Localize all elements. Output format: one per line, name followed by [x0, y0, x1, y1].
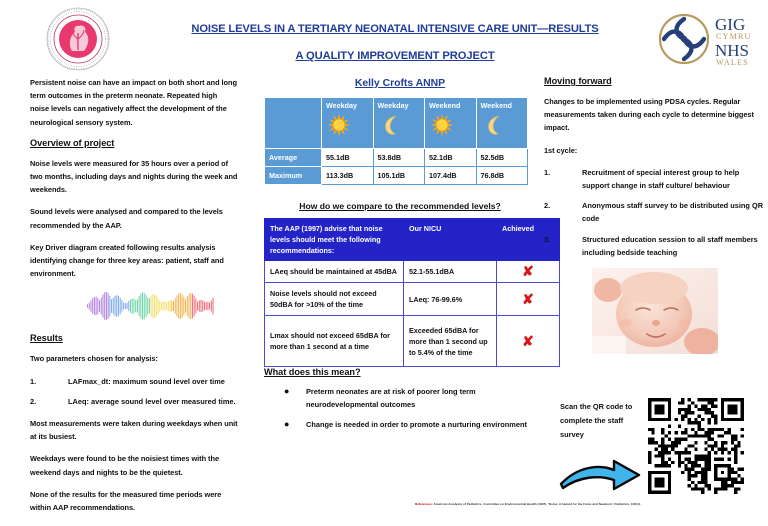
list-item-number: 1.: [544, 166, 574, 179]
cycle-label: 1st cycle:: [544, 144, 764, 157]
list-item: ● Preterm neonates are at risk of poorer…: [264, 386, 536, 411]
results-paragraph-2: Weekdays were found to be the noisiest t…: [30, 452, 238, 478]
table-row: Average 55.1dB 53.8dB 52.1dB 52.5dB: [265, 149, 528, 167]
cell-our-nicu-1: 52.1-55.1dBA: [404, 261, 497, 283]
column-header-our-nicu: Our NICU: [404, 219, 497, 261]
list-item: 3. Structured education session to all s…: [544, 233, 764, 259]
moving-forward-paragraph: Changes to be implemented using PDSA cyc…: [544, 95, 764, 135]
sound-waveform-graphic: [86, 289, 216, 323]
list-item-number: 2.: [544, 199, 574, 212]
table-corner-cell: [265, 98, 322, 149]
list-item-label: Preterm neonates are at risk of poorer l…: [306, 387, 476, 409]
table-row: Noise levels should not exceed 50dBA for…: [265, 283, 560, 316]
cell-maximum-weekend-day: 107.4dB: [425, 167, 477, 185]
results-intro: Two parameters chosen for analysis:: [30, 352, 238, 365]
nhs-wales-logo: GIG CYMRU NHS WALES: [652, 8, 764, 70]
bullet-dot-icon: ●: [284, 418, 289, 431]
cell-recommendation-1: LAeq should be maintained at 45dBA: [265, 261, 404, 283]
list-item-number: 3.: [544, 233, 574, 246]
list-item-label: LAFmax_dt: maximum sound level over time: [68, 377, 225, 386]
list-item-number: 1.: [30, 375, 60, 388]
university-crest-logo: [42, 6, 114, 72]
column-header-weekday-night: Weekday: [373, 98, 425, 149]
arrow-right-icon: [558, 458, 642, 492]
cell-average-weekday-night: 53.8dB: [373, 149, 425, 167]
sun-icon: [326, 113, 369, 139]
qr-instruction-text: Scan the QR code to complete the staff s…: [560, 400, 640, 442]
row-header-average: Average: [265, 149, 322, 167]
recommendations-comparison-table: The AAP (1997) advise that noise levels …: [264, 218, 560, 367]
staff-survey-qr-code[interactable]: [648, 398, 744, 494]
references-text: American Academy of Pediatrics, Committe…: [433, 502, 641, 506]
results-heading: Results: [30, 333, 238, 343]
list-item-label: Change is needed in order to promote a n…: [306, 420, 527, 429]
references-label: References:: [415, 502, 433, 506]
list-item-label: Anonymous staff survey to be distributed…: [582, 201, 763, 223]
poster-canvas: NOISE LEVELS IN A TERTIARY NEONATAL INTE…: [0, 0, 768, 526]
overview-paragraph-3: Key Driver diagram created following res…: [30, 241, 238, 281]
column-header-label: Weekend: [429, 101, 460, 110]
results-summary-table: Weekday Weekday: [264, 97, 528, 185]
cell-average-weekday-day: 55.1dB: [322, 149, 374, 167]
list-item: 2. Anonymous staff survey to be distribu…: [544, 199, 764, 225]
references-footer: References: American Academy of Pediatri…: [415, 502, 755, 507]
table-row: LAeq should be maintained at 45dBA 52.1-…: [265, 261, 560, 283]
list-item: ● Change is needed in order to promote a…: [264, 419, 536, 432]
moving-forward-heading: Moving forward: [544, 76, 764, 86]
list-item-number: 2.: [30, 395, 60, 408]
overview-paragraph-1: Noise levels were measured for 35 hours …: [30, 157, 238, 197]
page-title: NOISE LEVELS IN A TERTIARY NEONATAL INTE…: [150, 22, 640, 62]
title-main: NOISE LEVELS IN A TERTIARY NEONATAL INTE…: [150, 22, 640, 36]
cell-recommendation-2: Noise levels should not exceed 50dBA for…: [265, 283, 404, 316]
left-column: Persistent noise can have an impact on b…: [30, 76, 238, 523]
cell-average-weekend-night: 52.5dB: [476, 149, 528, 167]
cell-average-weekend-day: 52.1dB: [425, 149, 477, 167]
cycle-action-list: 1. Recruitment of special interest group…: [544, 166, 764, 259]
logo-wales-text: WALES: [716, 58, 749, 67]
meaning-heading: What does this mean?: [264, 367, 536, 377]
column-header-label: Weekday: [326, 101, 357, 110]
column-header-label: Weekend: [481, 101, 512, 110]
right-column: Moving forward Changes to be implemented…: [544, 76, 764, 354]
moon-icon: [481, 113, 524, 139]
results-parameter-list: 1. LAFmax_dt: maximum sound level over t…: [30, 375, 238, 408]
sun-icon: [429, 113, 472, 139]
overview-paragraph-2: Sound levels were analysed and compared …: [30, 205, 238, 231]
author-name: Kelly Crofts ANNP: [264, 78, 536, 89]
list-item-label: LAeq: average sound level over measured …: [68, 397, 236, 406]
cell-maximum-weekend-night: 76.8dB: [476, 167, 528, 185]
results-paragraph-3: None of the results for the measured tim…: [30, 488, 238, 514]
cell-our-nicu-2: LAeq: 76-99.6%: [404, 283, 497, 316]
cell-maximum-weekday-night: 105.1dB: [373, 167, 425, 185]
moon-icon: [378, 113, 421, 139]
title-subtitle: A QUALITY IMPROVEMENT PROJECT: [150, 50, 640, 62]
list-item-label: Structured education session to all staf…: [582, 235, 758, 257]
list-item: 1. LAFmax_dt: maximum sound level over t…: [30, 375, 238, 388]
column-header-weekend-day: Weekend: [425, 98, 477, 149]
intro-paragraph: Persistent noise can have an impact on b…: [30, 76, 238, 129]
overview-heading: Overview of project: [30, 138, 238, 148]
cell-maximum-weekday-day: 113.3dB: [322, 167, 374, 185]
bullet-dot-icon: ●: [284, 385, 289, 398]
logo-cymru-text: CYMRU: [716, 32, 752, 41]
poster-header: NOISE LEVELS IN A TERTIARY NEONATAL INTE…: [0, 0, 768, 74]
cell-our-nicu-3: Exceeded 65dBA for more than 1 second up…: [404, 316, 497, 367]
table-header-row: The AAP (1997) advise that noise levels …: [265, 219, 560, 261]
column-header-weekend-night: Weekend: [476, 98, 528, 149]
list-item: 2. LAeq: average sound level over measur…: [30, 395, 238, 408]
table-header-row: Weekday Weekday: [265, 98, 528, 149]
row-header-maximum: Maximum: [265, 167, 322, 185]
list-item: 1. Recruitment of special interest group…: [544, 166, 764, 192]
column-header-label: Weekday: [378, 101, 409, 110]
table-row: Maximum 113.3dB 105.1dB 107.4dB 76.8dB: [265, 167, 528, 185]
compare-heading: How do we compare to the recommended lev…: [264, 201, 536, 211]
column-header-recommendation: The AAP (1997) advise that noise levels …: [265, 219, 404, 261]
column-header-weekday-day: Weekday: [322, 98, 374, 149]
middle-column: Kelly Crofts ANNP Weekday: [264, 76, 536, 440]
table-row: Lmax should not exceed 65dBA for more th…: [265, 316, 560, 367]
qr-survey-block: Scan the QR code to complete the staff s…: [544, 400, 768, 500]
sleeping-newborn-photo: [592, 268, 718, 354]
list-item-label: Recruitment of special interest group to…: [582, 168, 739, 190]
cell-recommendation-3: Lmax should not exceed 65dBA for more th…: [265, 316, 404, 367]
results-paragraph-1: Most measurements were taken during week…: [30, 417, 238, 443]
meaning-bullet-list: ● Preterm neonates are at risk of poorer…: [264, 386, 536, 432]
